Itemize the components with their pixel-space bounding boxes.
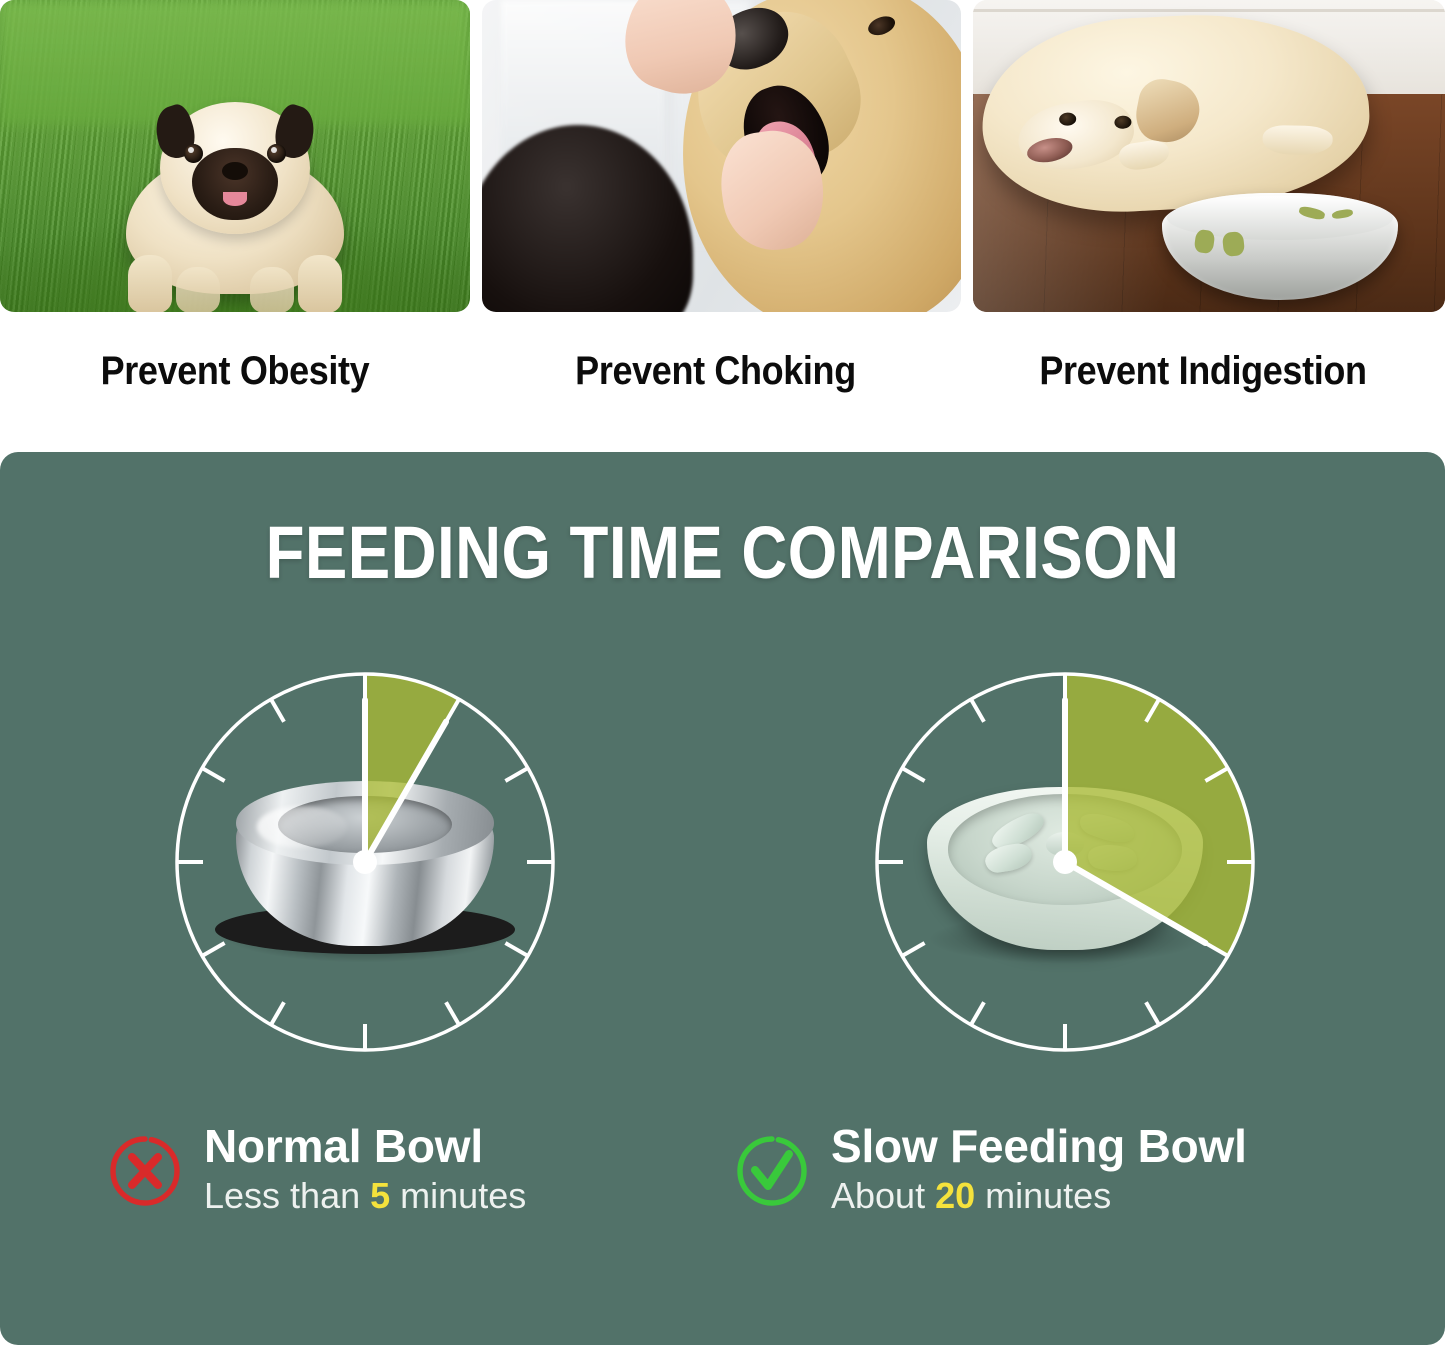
circled-check-icon [735,1134,809,1208]
comparison-labels: Normal Bowl Less than 5 minutes Slow Fee… [0,1122,1445,1262]
photo-card-prevent-indigestion [973,0,1445,312]
photo-captions: Prevent Obesity Prevent Choking Prevent … [0,316,1445,426]
sub-suffix: minutes [390,1175,526,1216]
photo-strip [0,0,1445,312]
dog-obese-photo [0,0,470,312]
photo-card-prevent-obesity [0,0,470,312]
photo-card-prevent-choking [482,0,961,312]
panel-title: FEEDING TIME COMPARISON [101,510,1344,595]
sub-suffix: minutes [975,1175,1111,1216]
caption-prevent-indigestion: Prevent Indigestion [985,316,1421,426]
label-sub-normal-bowl: Less than 5 minutes [204,1175,526,1217]
caption-prevent-obesity: Prevent Obesity [24,316,447,426]
label-slow-feeding-bowl: Slow Feeding Bowl About 20 minutes [735,1122,1247,1217]
sub-prefix: About [831,1175,935,1216]
clock-comparison-row [0,652,1445,1082]
slow-feeder-bowl [915,775,1215,965]
sub-value-minutes: 20 [935,1175,975,1216]
sub-prefix: Less than [204,1175,370,1216]
label-title-normal-bowl: Normal Bowl [204,1122,526,1171]
dog-choking-photo [482,0,961,312]
infographic-page: Prevent Obesity Prevent Choking Prevent … [0,0,1445,1353]
dog-indigestion-photo [973,0,1445,312]
sub-value-minutes: 5 [370,1175,390,1216]
label-sub-slow-feeding-bowl: About 20 minutes [831,1175,1247,1217]
circled-x-icon [108,1134,182,1208]
feeding-time-comparison-panel: FEEDING TIME COMPARISON [0,452,1445,1345]
clock-slow-feeding-bowl [855,652,1275,1072]
caption-prevent-choking: Prevent Choking [495,316,937,426]
label-normal-bowl: Normal Bowl Less than 5 minutes [108,1122,526,1217]
stainless-steel-bowl [215,775,515,965]
label-title-slow-feeding-bowl: Slow Feeding Bowl [831,1122,1247,1171]
clock-normal-bowl [155,652,575,1072]
